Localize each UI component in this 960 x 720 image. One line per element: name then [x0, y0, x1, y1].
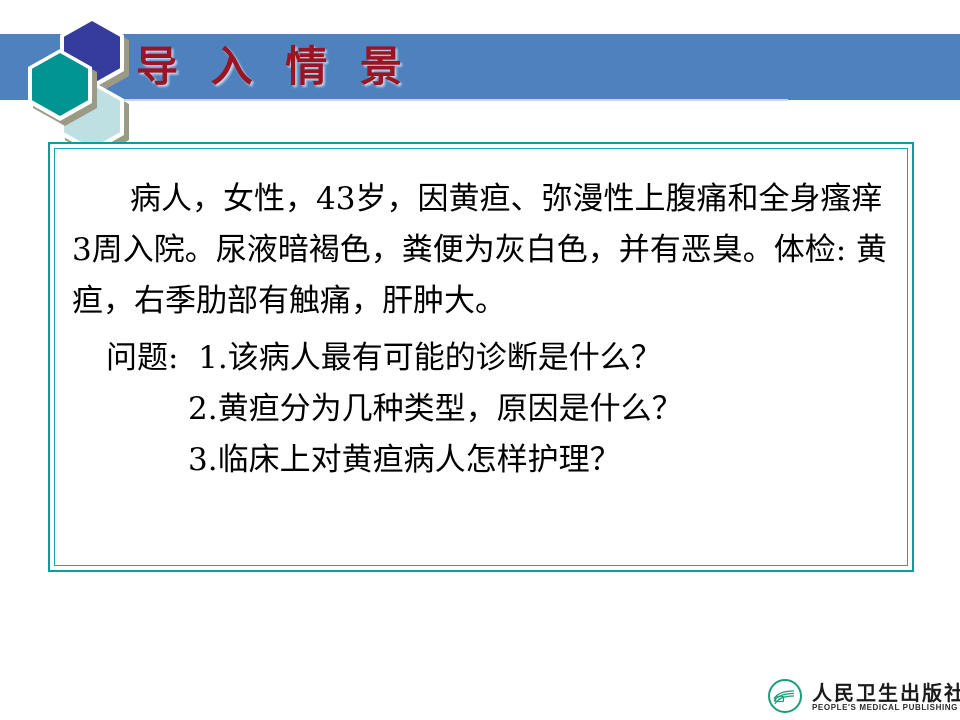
- publisher-mark-icon: [768, 679, 802, 713]
- question-item-1: 1.该病人最有可能的诊断是什么？: [198, 340, 662, 376]
- questions-line-1: 问题: 1.该病人最有可能的诊断是什么？: [72, 333, 896, 384]
- questions-label: 问题:: [106, 340, 178, 376]
- hexagon-logo: [12, 14, 120, 124]
- question-item-2: 2.黄疸分为几种类型，原因是什么？: [72, 384, 896, 435]
- slide-title: 导 入 情 景: [136, 36, 411, 98]
- questions-block: 问题: 1.该病人最有可能的诊断是什么？ 2.黄疸分为几种类型，原因是什么？ 3…: [72, 333, 896, 486]
- publisher-logo: 人民卫生出版社 PEOPLE'S MEDICAL PUBLISHING HOUS…: [768, 676, 956, 718]
- content-box: 病人，女性，43岁，因黄疸、弥漫性上腹痛和全身瘙痒3周入院。尿液暗褐色，粪便为灰…: [48, 142, 914, 572]
- case-paragraph: 病人，女性，43岁，因黄疸、弥漫性上腹痛和全身瘙痒3周入院。尿液暗褐色，粪便为灰…: [72, 174, 896, 327]
- question-item-3: 3.临床上对黄疸病人怎样护理？: [72, 435, 896, 486]
- publisher-name-en: PEOPLE'S MEDICAL PUBLISHING HOUSE: [812, 703, 960, 712]
- publisher-name-cn: 人民卫生出版社: [812, 677, 960, 706]
- content-text-area: 病人，女性，43岁，因黄疸、弥漫性上腹痛和全身瘙痒3周入院。尿液暗褐色，粪便为灰…: [72, 174, 896, 486]
- banner-underline: [48, 99, 788, 101]
